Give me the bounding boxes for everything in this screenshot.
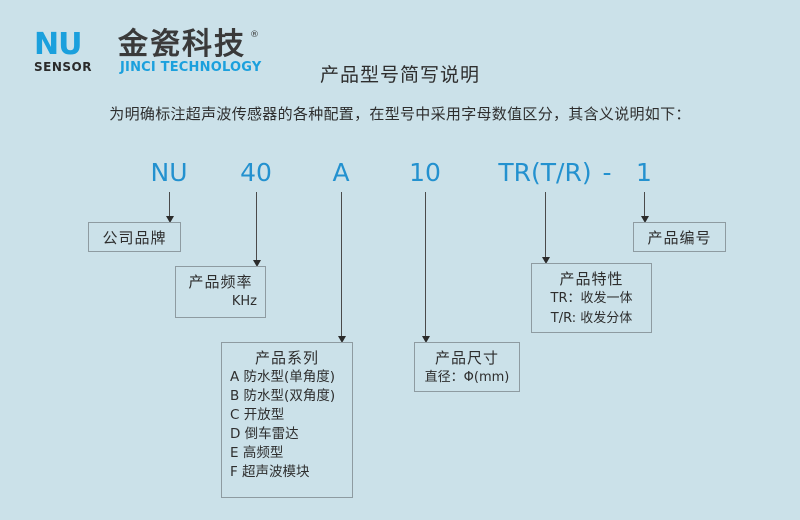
- model-part-4: TR(T/R): [498, 158, 591, 188]
- callout-title-product-code: 产品编号: [647, 227, 711, 248]
- callout-box-product-feature: 产品特性TR：收发一体T/R: 收发分体: [531, 263, 652, 333]
- connector-line-product-code: [644, 192, 645, 216]
- logo-mark-nu: NU: [34, 30, 81, 60]
- callout-line-product-series-1: B 防水型(双角度): [230, 387, 352, 406]
- callout-title-product-frequency: 产品频率: [176, 271, 265, 292]
- callout-line-product-feature-0: TR：收发一体: [532, 289, 651, 309]
- callout-line-product-series-0: A 防水型(单角度): [230, 368, 352, 387]
- callout-box-product-code: 产品编号: [633, 222, 726, 252]
- callout-line-product-size-0: 直径：Φ(mm): [415, 368, 519, 388]
- callout-box-product-size: 产品尺寸直径：Φ(mm): [414, 342, 520, 392]
- model-part-5: -: [602, 158, 611, 188]
- callout-line-product-series-5: F 超声波模块: [230, 463, 352, 482]
- callout-line-product-series-3: D 倒车雷达: [230, 425, 352, 444]
- model-part-0: NU: [151, 158, 188, 188]
- registered-trademark-icon: ®: [250, 30, 259, 40]
- callout-title-product-size: 产品尺寸: [415, 347, 519, 368]
- diagram-canvas: NU SENSOR 金瓷科技 ® JINCI TECHNOLOGY 产品型号简写…: [0, 0, 800, 520]
- model-part-2: A: [332, 158, 349, 188]
- callout-box-product-frequency: 产品频率KHz: [175, 266, 266, 318]
- connector-line-company-brand: [169, 192, 170, 216]
- connector-line-product-frequency: [256, 192, 257, 260]
- connector-line-product-size: [425, 192, 426, 336]
- callout-title-product-feature: 产品特性: [532, 268, 651, 289]
- connector-line-product-feature: [545, 192, 546, 257]
- callout-box-product-series: 产品系列A 防水型(单角度)B 防水型(双角度)C 开放型D 倒车雷达E 高频型…: [221, 342, 353, 498]
- page-title: 产品型号简写说明: [0, 60, 800, 87]
- callout-box-company-brand: 公司品牌: [88, 222, 181, 252]
- model-number-row: NU40A10TR(T/R)-1: [0, 158, 800, 190]
- model-part-1: 40: [240, 158, 272, 188]
- model-part-6: 1: [636, 158, 652, 188]
- logo-name-cn: 金瓷科技: [118, 28, 246, 62]
- callout-line-product-frequency-0: KHz: [176, 292, 257, 312]
- callout-title-company-brand: 公司品牌: [102, 227, 166, 248]
- callout-line-product-feature-1: T/R: 收发分体: [532, 309, 651, 329]
- page-subtitle: 为明确标注超声波传感器的各种配置，在型号中采用字母数值区分，其含义说明如下：: [0, 103, 800, 124]
- connector-line-product-series: [341, 192, 342, 336]
- callout-line-product-series-2: C 开放型: [230, 406, 352, 425]
- callout-title-product-series: 产品系列: [222, 347, 352, 368]
- callout-line-product-series-4: E 高频型: [230, 444, 352, 463]
- model-part-3: 10: [409, 158, 441, 188]
